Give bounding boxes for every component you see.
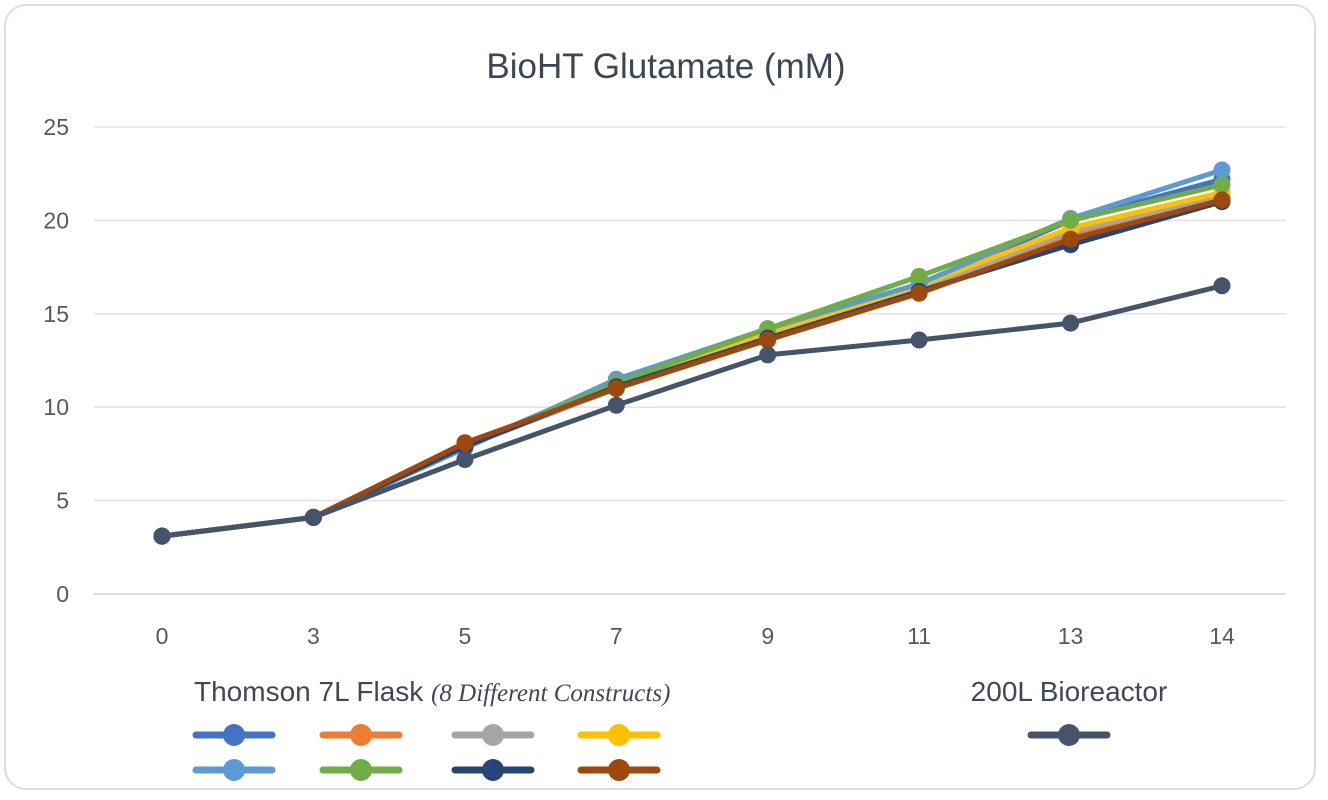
data-point xyxy=(608,380,625,397)
data-point xyxy=(759,346,776,363)
data-point xyxy=(1214,191,1231,208)
x-axis-tick-label: 13 xyxy=(1058,623,1084,649)
series-construct-8 xyxy=(154,191,1231,544)
legend-group-flask-title: Thomson 7L Flask (8 Different Constructs… xyxy=(194,676,670,707)
data-point xyxy=(305,509,322,526)
series-lines xyxy=(154,162,1231,545)
legend-swatch-marker xyxy=(482,724,504,746)
y-axis-tick-label: 10 xyxy=(43,394,69,420)
data-point xyxy=(1062,231,1079,248)
series-line xyxy=(162,202,1222,536)
data-point xyxy=(1214,176,1231,193)
series-line xyxy=(162,200,1222,536)
data-point xyxy=(759,332,776,349)
y-axis-tick-label: 25 xyxy=(43,114,69,140)
legend-swatch-marker xyxy=(482,759,504,781)
legend-swatch[interactable]: Construct 7 xyxy=(455,759,531,781)
data-point xyxy=(911,285,928,302)
data-point xyxy=(1062,212,1079,229)
chart-canvas: BioHT Glutamate (mM) 0510152025 03579111… xyxy=(6,6,1318,792)
y-axis-tick-label: 0 xyxy=(56,581,69,607)
data-point xyxy=(911,332,928,349)
data-point xyxy=(608,397,625,414)
legend-swatch[interactable]: Construct 2 xyxy=(323,724,399,746)
data-point xyxy=(1062,315,1079,332)
legend-swatch[interactable]: Construct 4 xyxy=(581,724,657,746)
x-axis-tick-label: 0 xyxy=(156,623,169,649)
legend-swatch-marker xyxy=(223,759,245,781)
legend-swatch-marker xyxy=(223,724,245,746)
x-axis-tick-label: 9 xyxy=(761,623,774,649)
x-axis-tick-labels: 03579111314 xyxy=(156,623,1235,649)
legend-bioreactor-swatches: 200L Bioreactor xyxy=(1031,724,1107,746)
legend-swatch[interactable]: Construct 3 xyxy=(455,724,531,746)
y-axis-tick-label: 5 xyxy=(56,488,69,514)
data-point xyxy=(154,528,171,545)
data-point xyxy=(456,434,473,451)
chart-card: BioHT Glutamate (mM) 0510152025 03579111… xyxy=(4,4,1316,790)
legend-swatch[interactable]: 200L Bioreactor xyxy=(1031,724,1107,746)
x-axis-tick-label: 11 xyxy=(907,623,931,649)
y-axis-tick-label: 15 xyxy=(43,301,69,327)
legend-swatch-marker xyxy=(1058,724,1080,746)
legend-flask-swatches: Construct 1Construct 2Construct 3Constru… xyxy=(196,724,657,781)
legend-swatch-marker xyxy=(350,724,372,746)
legend-flask-title-sub: (8 Different Constructs) xyxy=(431,680,670,707)
x-axis-tick-label: 5 xyxy=(458,623,471,649)
series-200l-bioreactor xyxy=(154,277,1231,544)
chart-title: BioHT Glutamate (mM) xyxy=(486,47,845,86)
x-axis-tick-label: 3 xyxy=(307,623,320,649)
data-point xyxy=(456,451,473,468)
legend-flask-title-main: Thomson 7L Flask xyxy=(194,676,431,707)
legend-swatch[interactable]: Construct 8 xyxy=(581,759,657,781)
line-chart: BioHT Glutamate (mM) 0510152025 03579111… xyxy=(6,6,1318,792)
legend-swatch[interactable]: Construct 6 xyxy=(323,759,399,781)
legend-swatch[interactable]: Construct 1 xyxy=(196,724,272,746)
legend-group-bioreactor-title: 200L Bioreactor xyxy=(971,676,1168,707)
x-axis-tick-label: 14 xyxy=(1209,623,1235,649)
data-point xyxy=(1214,277,1231,294)
y-axis-tick-labels: 0510152025 xyxy=(43,114,69,607)
data-point xyxy=(1214,162,1231,179)
data-point xyxy=(911,268,928,285)
legend-swatch-marker xyxy=(350,759,372,781)
x-axis-tick-label: 7 xyxy=(610,623,623,649)
y-axis-tick-label: 20 xyxy=(43,207,69,233)
legend-swatch-marker xyxy=(608,759,630,781)
legend-swatch[interactable]: Construct 5 xyxy=(196,759,272,781)
legend-swatch-marker xyxy=(608,724,630,746)
